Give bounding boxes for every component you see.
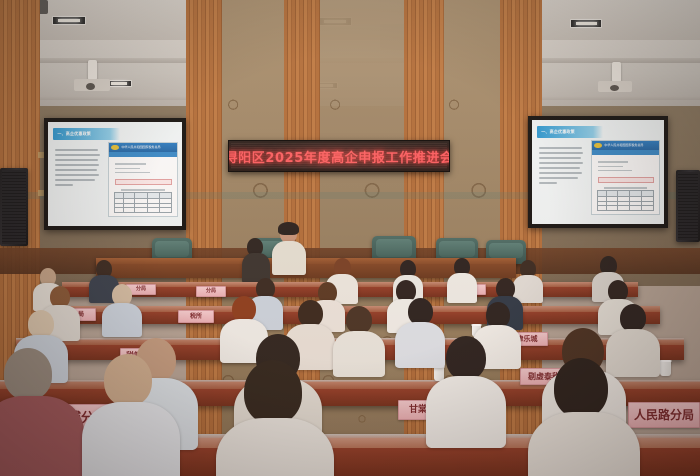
slide-header-text: 一、高企优惠政策 xyxy=(541,129,575,135)
nameplate: 税所 xyxy=(178,310,214,323)
window-title-text: 中华人民共和国国家税务总局 xyxy=(121,145,160,149)
slide-left: 一、高企优惠政策 中华人民共和国国家税务总局 xyxy=(48,122,182,226)
wall-speaker xyxy=(676,170,700,242)
emblem-icon xyxy=(594,143,602,149)
data-table xyxy=(597,190,654,210)
projector-mount xyxy=(88,60,97,80)
nameplate-renminlu: 人民路分局 xyxy=(628,402,700,428)
slide-paragraph xyxy=(55,149,101,195)
ceiling-light-icon xyxy=(52,16,86,25)
banner-text: 浔阳区2025年度高企申报工作推进会 xyxy=(228,147,450,166)
projector-lens-icon xyxy=(86,83,95,90)
left-screen[interactable]: 一、高企优惠政策 中华人民共和国国家税务总局 xyxy=(48,122,182,226)
data-table xyxy=(114,192,172,212)
slide-header-bar: 一、高企优惠政策 xyxy=(537,126,603,137)
ceiling-light-icon xyxy=(570,19,602,28)
highlight-box xyxy=(115,179,172,185)
conference-room-photo: 一、高企优惠政策 中华人民共和国国家税务总局 xyxy=(0,0,700,476)
slide-paragraph xyxy=(539,147,584,193)
window-title-text: 中华人民共和国国家税务总局 xyxy=(604,143,643,147)
paper-cup xyxy=(660,360,671,376)
highlight-box xyxy=(598,177,654,183)
led-banner: 浔阳区2025年度高企申报工作推进会 xyxy=(228,140,450,172)
right-screen[interactable]: 一、高企优惠政策 中华人民共和国国家税务总局 xyxy=(532,120,664,224)
window-titlebar: 中华人民共和国国家税务总局 xyxy=(592,141,659,150)
nameplate: 分局 xyxy=(196,286,226,297)
slide-right: 一、高企优惠政策 中华人民共和国国家税务总局 xyxy=(532,120,664,224)
window-navbar xyxy=(109,152,177,157)
wall-speaker xyxy=(0,168,28,246)
window-navbar xyxy=(592,150,659,155)
emblem-icon xyxy=(111,145,119,151)
window-titlebar: 中华人民共和国国家税务总局 xyxy=(109,143,177,152)
projector-lens-icon xyxy=(610,85,619,91)
projector-mount xyxy=(612,62,621,82)
slide-screenshot-window: 中华人民共和国国家税务总局 xyxy=(591,140,660,215)
slide-header-bar: 一、高企优惠政策 xyxy=(53,128,120,139)
slide-header-text: 一、高企优惠政策 xyxy=(57,131,91,137)
slide-screenshot-window: 中华人民共和国国家税务总局 xyxy=(108,142,178,217)
